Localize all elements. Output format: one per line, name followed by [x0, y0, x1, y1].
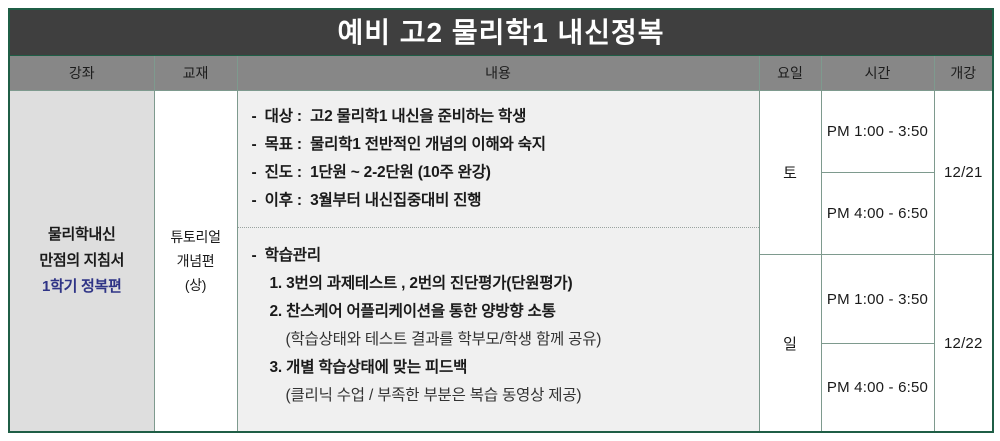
column-header-start: 개강: [934, 56, 993, 91]
schedule-time-sun-1: PM 1:00 - 3:50: [821, 255, 934, 343]
schedule-time-sat-1: PM 1:00 - 3:50: [821, 91, 934, 173]
schedule-time-sat-2: PM 4:00 - 6:50: [821, 173, 934, 255]
content-management-heading: - 학습관리: [252, 242, 747, 270]
content-management-note-2: (학습상태와 테스트 결과를 학부모/학생 함께 공유): [252, 326, 747, 354]
schedule-start-sunday: 12/22: [934, 255, 993, 432]
course-name-line-2: 만점의 지침서: [10, 248, 154, 274]
column-header-course: 강좌: [9, 56, 154, 91]
table-title-cell: 예비 고2 물리학1 내신정복: [9, 9, 993, 56]
page-root: 예비 고2 물리학1 내신정복 강좌 교재 내용 요일 시간 개강 물리학내신 …: [0, 0, 1000, 441]
column-header-book: 교재: [154, 56, 237, 91]
content-management-item-3: 3. 개별 학습상태에 맞는 피드백: [252, 354, 747, 382]
course-name-line-3: 1학기 정복편: [10, 274, 154, 300]
content-management-item-1: 1. 3번의 과제테스트 , 2번의 진단평가(단원평가): [252, 270, 747, 298]
course-name-line-1: 물리학내신: [10, 222, 154, 248]
content-management-item-2: 2. 찬스케어 어플리케이션을 통한 양방향 소통: [252, 298, 747, 326]
content-cell: - 대상 : 고2 물리학1 내신을 준비하는 학생 - 목표 : 물리학1 전…: [237, 91, 759, 432]
course-name-cell: 물리학내신 만점의 지침서 1학기 정복편: [9, 91, 154, 432]
textbook-line-2: 개념편: [155, 249, 237, 273]
content-management-note-3: (클리닉 수업 / 부족한 부분은 복습 동영상 제공): [252, 382, 747, 410]
schedule-time-sun-2: PM 4:00 - 6:50: [821, 343, 934, 432]
textbook-line-1: 튜토리얼: [155, 225, 237, 249]
textbook-line-3: (상): [155, 273, 237, 297]
course-schedule-table: 예비 고2 물리학1 내신정복 강좌 교재 내용 요일 시간 개강 물리학내신 …: [8, 8, 994, 433]
textbook-cell: 튜토리얼 개념편 (상): [154, 91, 237, 432]
page-title: 예비 고2 물리학1 내신정복: [10, 11, 992, 55]
column-header-time: 시간: [821, 56, 934, 91]
column-header-content: 내용: [237, 56, 759, 91]
schedule-day-saturday: 토: [759, 91, 821, 255]
content-line-target: - 대상 : 고2 물리학1 내신을 준비하는 학생: [252, 103, 747, 131]
content-line-goal: - 목표 : 물리학1 전반적인 개념의 이해와 숙지: [252, 131, 747, 159]
content-line-afterward: - 이후 : 3월부터 내신집중대비 진행: [252, 187, 747, 215]
content-line-progress: - 진도 : 1단원 ~ 2-2단원 (10주 완강): [252, 159, 747, 187]
header-row: 강좌 교재 내용 요일 시간 개강: [9, 56, 993, 91]
content-wrapper: - 대상 : 고2 물리학1 내신을 준비하는 학생 - 목표 : 물리학1 전…: [238, 91, 759, 431]
content-block-management: - 학습관리 1. 3번의 과제테스트 , 2번의 진단평가(단원평가) 2. …: [238, 228, 759, 431]
column-header-day: 요일: [759, 56, 821, 91]
schedule-start-saturday: 12/21: [934, 91, 993, 255]
title-row: 예비 고2 물리학1 내신정복: [9, 9, 993, 56]
table-row: 물리학내신 만점의 지침서 1학기 정복편 튜토리얼 개념편 (상) - 대상 …: [9, 91, 993, 173]
schedule-day-sunday: 일: [759, 255, 821, 432]
content-block-overview: - 대상 : 고2 물리학1 내신을 준비하는 학생 - 목표 : 물리학1 전…: [238, 91, 759, 228]
